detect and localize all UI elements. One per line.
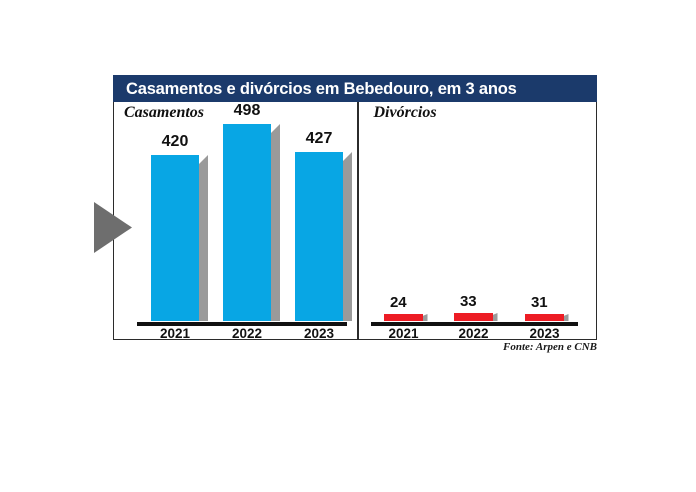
chart-panels: Casamentos 420 498	[113, 102, 597, 340]
plot-divorcios: 24 33 31 2021 2022 2023	[359, 102, 597, 339]
bar-face	[151, 155, 199, 321]
bar-value-divorcios-2023: 31	[531, 294, 548, 311]
bar-divorcios-2022[interactable]: 33	[454, 313, 493, 321]
bar-divorcios-2023[interactable]: 31	[525, 314, 564, 321]
bar-face	[223, 124, 271, 321]
bar-shadow	[493, 313, 498, 321]
bar-value-casamentos-2022: 498	[234, 102, 261, 120]
bar-face	[525, 314, 564, 321]
bar-value-casamentos-2023: 427	[306, 130, 333, 148]
page-title: Casamentos e divórcios em Bebedouro, em …	[126, 80, 517, 99]
bar-face	[384, 314, 423, 321]
bar-value-divorcios-2021: 24	[390, 294, 407, 311]
tick-label-casamentos-2022: 2022	[232, 326, 262, 341]
bar-face	[295, 152, 343, 321]
infographic-chart: Casamentos e divórcios em Bebedouro, em …	[113, 75, 597, 340]
triangle-right-icon	[92, 200, 134, 255]
tick-label-divorcios-2022: 2022	[458, 326, 488, 341]
panel-divorcios: Divórcios 24 33	[359, 102, 597, 339]
panel-casamentos: Casamentos 420 498	[114, 102, 357, 339]
plot-casamentos: 420 498 427 2021 2022 2023	[114, 102, 357, 339]
tick-label-divorcios-2021: 2021	[388, 326, 418, 341]
bar-divorcios-2021[interactable]: 24	[384, 314, 423, 321]
bar-shadow	[564, 314, 569, 321]
bar-casamentos-2022[interactable]: 498	[223, 124, 271, 321]
tick-label-casamentos-2023: 2023	[304, 326, 334, 341]
chart-title-bar: Casamentos e divórcios em Bebedouro, em …	[113, 75, 597, 102]
bar-face	[454, 313, 493, 321]
bar-shadow	[271, 124, 280, 321]
bar-casamentos-2023[interactable]: 427	[295, 152, 343, 321]
bar-shadow	[199, 155, 208, 321]
bar-shadow	[423, 314, 428, 321]
bar-value-divorcios-2022: 33	[460, 293, 477, 310]
source-note: Fonte: Arpen e CNB	[113, 341, 597, 353]
tick-label-divorcios-2023: 2023	[529, 326, 559, 341]
bar-shadow	[343, 152, 352, 321]
bar-casamentos-2021[interactable]: 420	[151, 155, 199, 321]
tick-label-casamentos-2021: 2021	[160, 326, 190, 341]
bar-value-casamentos-2021: 420	[162, 133, 189, 151]
